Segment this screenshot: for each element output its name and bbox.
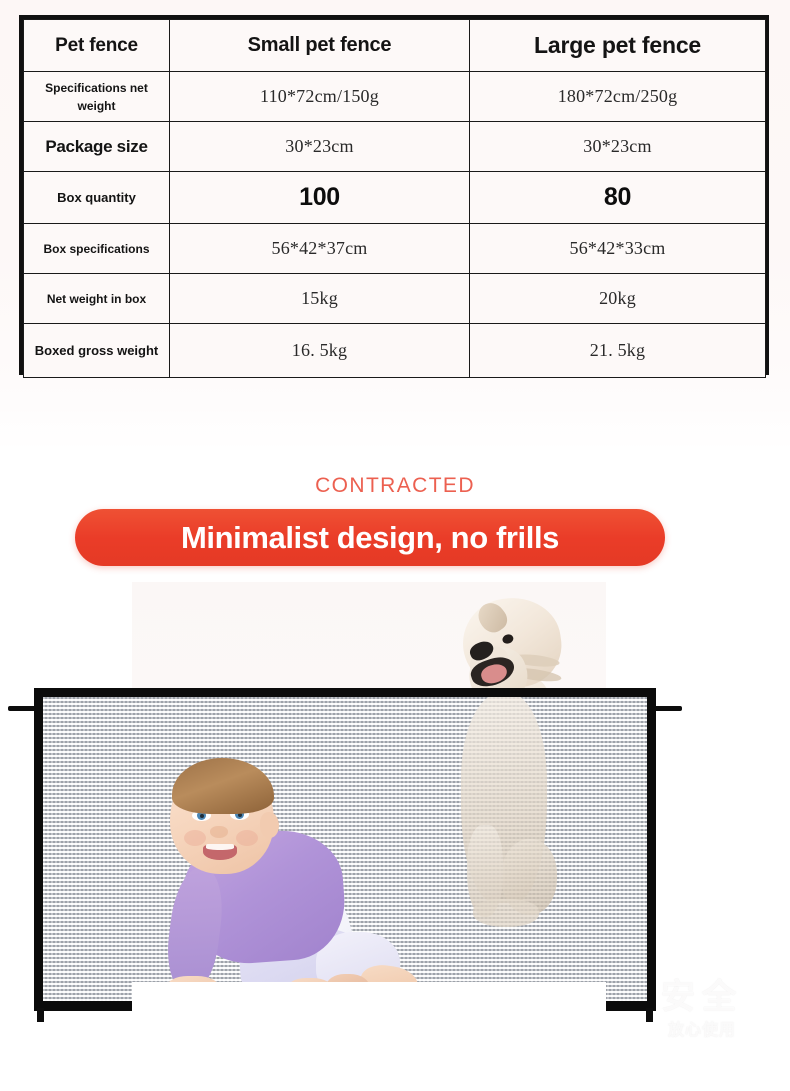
product-photo-section: 安全 放心使用 [0, 582, 790, 1091]
baby-teeth [206, 844, 234, 850]
specification-section: Pet fence Small pet fence Large pet fenc… [0, 0, 790, 452]
dog-foot-behind-mesh [473, 899, 539, 927]
baby-nose [210, 826, 228, 838]
row-value-large: 30*23cm [470, 122, 766, 172]
product-detail-page: Pet fence Small pet fence Large pet fenc… [0, 0, 790, 1091]
value-small-box-specifications: 56*42*37cm [272, 238, 368, 258]
value-large-net-weight-in-box: 20kg [599, 288, 636, 308]
value-large-specifications-net-weight: 180*72cm/250g [558, 86, 678, 106]
baby-cheek-right [236, 830, 258, 846]
table-row: Boxed gross weight 16. 5kg 21. 5kg [24, 324, 766, 378]
row-label-cell: Net weight in box [24, 274, 170, 324]
value-small-specifications-net-weight: 110*72cm/150g [260, 86, 379, 106]
dog-ear [473, 598, 512, 638]
row-label-package-size: Package size [45, 137, 147, 156]
table-header-cell-small: Small pet fence [170, 20, 470, 72]
baby-pupil-left [200, 814, 204, 818]
baby-cheek-left [184, 830, 206, 846]
baby-hair [172, 758, 274, 814]
value-small-net-weight-in-box: 15kg [301, 288, 338, 308]
table-header-cell-large: Large pet fence [470, 20, 766, 72]
fence-foot-left [37, 1008, 44, 1022]
row-value-large: 20kg [470, 274, 766, 324]
row-label-box-specifications: Box specifications [43, 242, 149, 256]
table-row: Package size 30*23cm 30*23cm [24, 122, 766, 172]
row-label-cell: Box specifications [24, 224, 170, 274]
row-label-cell: Specifications net weight [24, 72, 170, 122]
header-small-pet-fence: Small pet fence [248, 34, 392, 56]
table-header-cell-attribute: Pet fence [24, 20, 170, 72]
table-row: Box quantity 100 80 [24, 172, 766, 224]
table-row: Net weight in box 15kg 20kg [24, 274, 766, 324]
row-value-large: 21. 5kg [470, 324, 766, 378]
table-header-row: Pet fence Small pet fence Large pet fenc… [24, 20, 766, 72]
row-label-cell: Boxed gross weight [24, 324, 170, 378]
row-value-small: 110*72cm/150g [170, 72, 470, 122]
row-label-net-weight-in-box: Net weight in box [47, 292, 146, 306]
table-row: Specifications net weight 110*72cm/150g … [24, 72, 766, 122]
fence-foot-right [646, 1008, 653, 1022]
row-label-cell: Box quantity [24, 172, 170, 224]
row-value-small: 15kg [170, 274, 470, 324]
value-large-box-specifications: 56*42*33cm [570, 238, 666, 258]
value-small-box-quantity: 100 [299, 183, 340, 211]
row-value-small: 16. 5kg [170, 324, 470, 378]
dog-seen-through-mesh [443, 697, 563, 993]
row-label-box-quantity: Box quantity [57, 190, 136, 205]
row-value-large: 80 [470, 172, 766, 224]
specification-table-container: Pet fence Small pet fence Large pet fenc… [19, 15, 769, 375]
specification-table: Pet fence Small pet fence Large pet fenc… [23, 19, 766, 378]
header-large-pet-fence: Large pet fence [534, 32, 701, 58]
baby-ear [260, 812, 279, 838]
row-label-cell: Package size [24, 122, 170, 172]
fence-mount-bar-right [652, 706, 682, 711]
row-label-boxed-gross-weight: Boxed gross weight [35, 343, 159, 358]
baby-front-arm [163, 865, 227, 992]
value-large-boxed-gross-weight: 21. 5kg [590, 340, 645, 360]
row-value-small: 56*42*37cm [170, 224, 470, 274]
table-row: Box specifications 56*42*37cm 56*42*33cm [24, 224, 766, 274]
value-small-boxed-gross-weight: 16. 5kg [292, 340, 347, 360]
dog-eye [501, 633, 514, 645]
promo-banner-section: CONTRACTED Minimalist design, no frills [0, 452, 790, 582]
banner-kicker-text: CONTRACTED [0, 474, 790, 498]
watermark-sub-text: 放心使用 [632, 1016, 772, 1040]
value-large-box-quantity: 80 [604, 183, 631, 211]
header-pet-fence: Pet fence [55, 35, 138, 56]
row-label-specifications-net-weight: Specifications net weight [45, 81, 148, 113]
value-small-package-size: 30*23cm [285, 136, 353, 156]
banner-headline-text: Minimalist design, no frills [181, 522, 559, 553]
row-value-small: 100 [170, 172, 470, 224]
row-value-large: 56*42*33cm [470, 224, 766, 274]
floor-surface [132, 982, 606, 1091]
banner-headline-pill: Minimalist design, no frills [75, 509, 665, 566]
value-large-package-size: 30*23cm [583, 136, 651, 156]
dog-head [457, 592, 567, 695]
row-value-large: 180*72cm/250g [470, 72, 766, 122]
row-value-small: 30*23cm [170, 122, 470, 172]
